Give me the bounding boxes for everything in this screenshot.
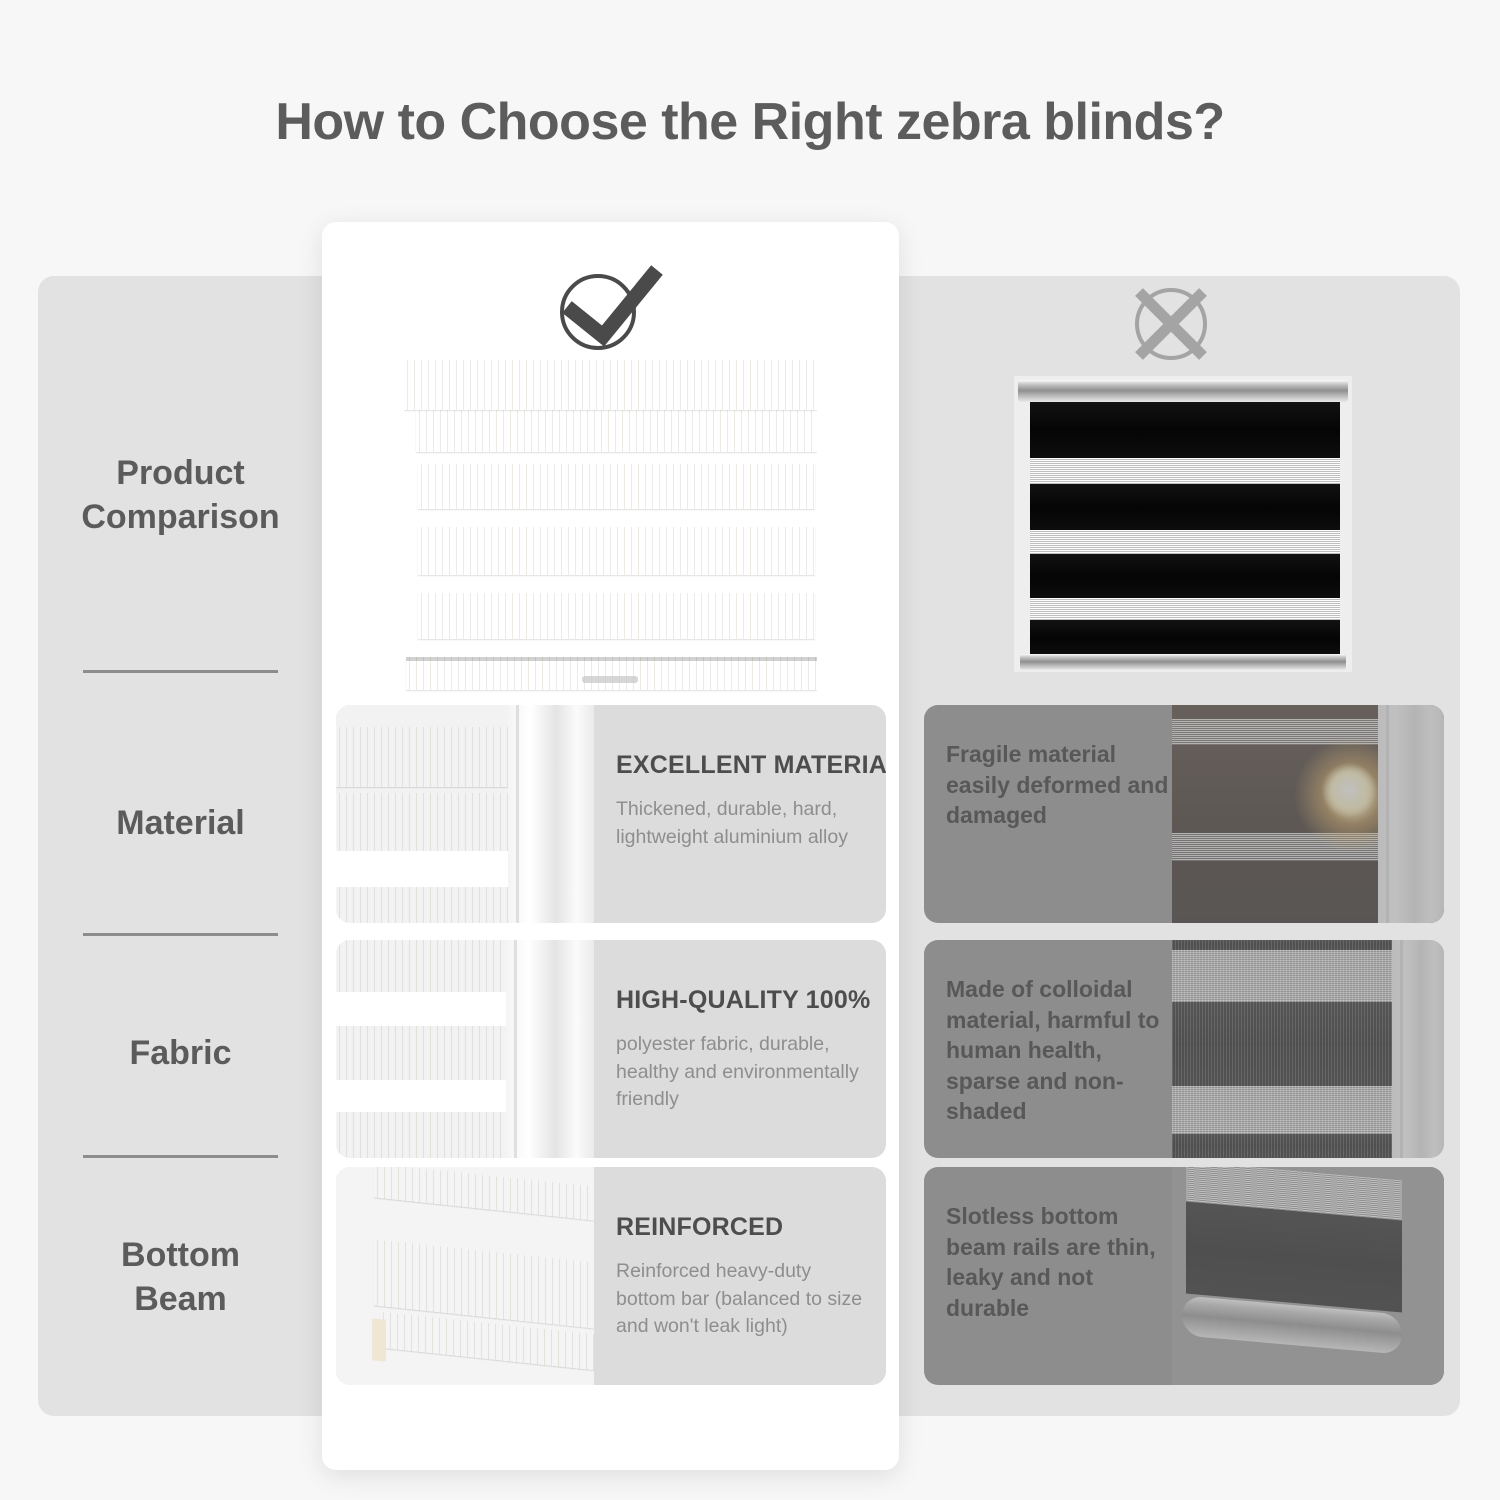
row-label-line1: Bottom	[38, 1234, 323, 1278]
row-label-line2: Comparison	[38, 496, 323, 540]
row-label-material: Material	[38, 802, 323, 846]
photo-good-fabric	[336, 940, 594, 1158]
hero-image-good-blind	[404, 352, 817, 697]
row-label-column: Product Comparison Material Fabric Botto…	[38, 276, 323, 1416]
row-divider-1	[83, 670, 278, 673]
feature-body: Reinforced heavy-duty bottom bar (balanc…	[616, 1258, 864, 1341]
infographic-root: How to Choose the Right zebra blinds? Pr…	[0, 0, 1500, 1500]
feature-row-bad-bottom-beam: Slotless bottom beam rails are thin, lea…	[924, 1167, 1444, 1385]
feature-text-good-bottom-beam: REINFORCED Reinforced heavy-duty bottom …	[594, 1167, 886, 1385]
row-label-line1: Product	[38, 452, 323, 496]
feature-body: polyester fabric, durable, healthy and e…	[616, 1031, 864, 1114]
feature-text-bad-material: Fragile material easily deformed and dam…	[924, 705, 1192, 923]
feature-text-good-fabric: HIGH-QUALITY 100% polyester fabric, dura…	[594, 940, 886, 1158]
row-label-fabric: Fabric	[38, 1032, 323, 1076]
row-divider-3	[83, 1155, 278, 1158]
photo-good-bottom-beam	[336, 1167, 594, 1385]
photo-bad-fabric	[1172, 940, 1444, 1158]
photo-good-material	[336, 705, 594, 923]
feature-text-bad-bottom-beam: Slotless bottom beam rails are thin, lea…	[924, 1167, 1192, 1385]
check-circle-icon	[545, 262, 675, 354]
feature-row-bad-fabric: Made of colloidal material, harmful to h…	[924, 940, 1444, 1158]
photo-bad-material	[1172, 705, 1444, 923]
photo-bad-bottom-beam	[1172, 1167, 1444, 1385]
feature-heading: REINFORCED	[616, 1213, 864, 1242]
feature-row-good-fabric: HIGH-QUALITY 100% polyester fabric, dura…	[336, 940, 886, 1158]
row-label-line1: Material	[38, 802, 323, 846]
row-divider-2	[83, 933, 278, 936]
x-circle-icon	[1112, 278, 1230, 370]
row-label-bottom-beam: Bottom Beam	[38, 1234, 323, 1321]
feature-heading: EXCELLENT MATERIAL	[616, 751, 864, 780]
row-label-line1: Fabric	[38, 1032, 323, 1076]
page-title: How to Choose the Right zebra blinds?	[0, 92, 1500, 152]
hero-image-bad-blind	[1014, 376, 1352, 672]
feature-row-good-bottom-beam: REINFORCED Reinforced heavy-duty bottom …	[336, 1167, 886, 1385]
feature-text-good-material: EXCELLENT MATERIAL Thickened, durable, h…	[594, 705, 886, 923]
row-label-line2: Beam	[38, 1278, 323, 1322]
feature-text-bad-fabric: Made of colloidal material, harmful to h…	[924, 940, 1192, 1158]
row-label-product-comparison: Product Comparison	[38, 452, 323, 539]
feature-heading: HIGH-QUALITY 100%	[616, 986, 864, 1015]
feature-row-good-material: EXCELLENT MATERIAL Thickened, durable, h…	[336, 705, 886, 923]
feature-row-bad-material: Fragile material easily deformed and dam…	[924, 705, 1444, 923]
feature-body: Thickened, durable, hard, lightweight al…	[616, 796, 864, 851]
